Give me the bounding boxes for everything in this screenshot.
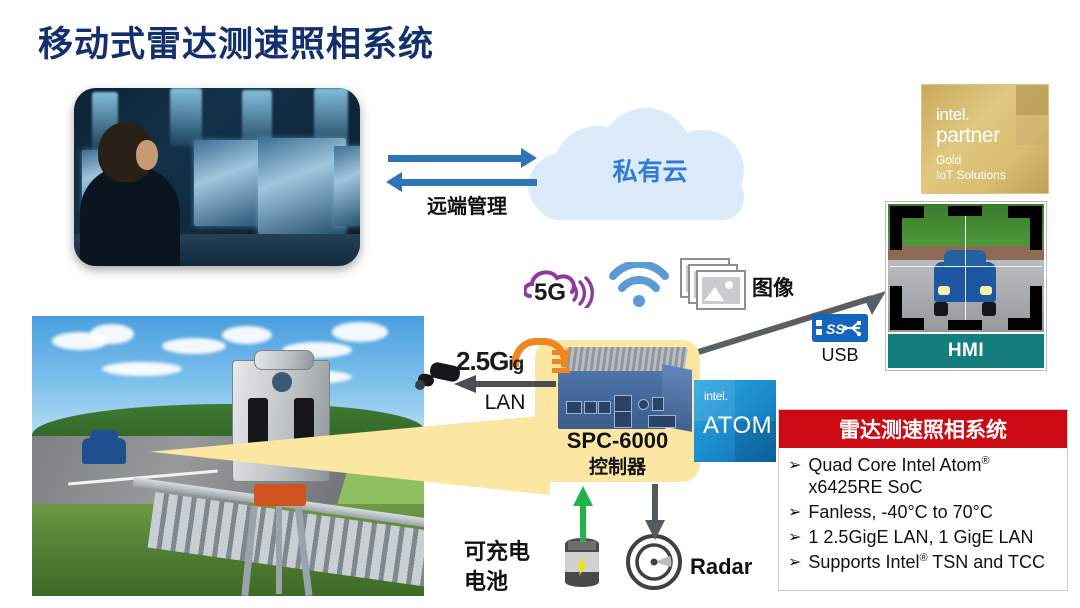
private-cloud-label: 私有云 bbox=[600, 152, 700, 188]
gige-e-mark bbox=[552, 350, 570, 374]
usb-icon: SS bbox=[812, 314, 868, 342]
spec-item: ➢ Supports Intel® TSN and TCC bbox=[788, 552, 1059, 574]
hmi-panel: HMI bbox=[885, 201, 1047, 371]
remote-management-label: 远端管理 bbox=[387, 190, 547, 219]
spec-item-text: Fanless, -40°C to 70°C bbox=[808, 502, 992, 524]
intel-partner-badge: intel. partner Gold IoT Solutions bbox=[921, 84, 1049, 194]
bullet-icon: ➢ bbox=[788, 527, 801, 549]
lan-label: LAN bbox=[460, 391, 550, 415]
intel-partner-brand: intel. bbox=[936, 105, 970, 125]
svg-text:SS: SS bbox=[826, 321, 845, 337]
usb-label: USB bbox=[805, 345, 875, 366]
intel-atom-product: ATOM bbox=[703, 412, 772, 440]
bullet-icon: ➢ bbox=[788, 455, 801, 477]
spec-text-sup: ® bbox=[982, 455, 990, 467]
spec-list: ➢ Quad Core Intel Atom® x6425RE SoC ➢ Fa… bbox=[779, 448, 1067, 574]
spec-item-text: 1 2.5GigE LAN, 1 GigE LAN bbox=[808, 527, 1033, 549]
wifi-icon bbox=[608, 262, 670, 308]
spc-device-name: SPC-6000 bbox=[535, 428, 700, 454]
intel-partner-tier: Gold bbox=[936, 153, 961, 167]
gige-sub-label: ig bbox=[508, 354, 523, 375]
intel-partner-word: partner bbox=[936, 124, 1000, 148]
intel-atom-badge: intel. ATOM bbox=[694, 380, 776, 462]
control-room-photo bbox=[74, 88, 360, 266]
spec-text-line2: x6425RE SoC bbox=[808, 477, 922, 497]
spec-text-a: Supports Intel bbox=[808, 552, 919, 572]
5g-icon: 5G bbox=[524, 262, 596, 308]
svg-text:5G: 5G bbox=[534, 279, 566, 306]
spc-device-subtitle: 控制器 bbox=[535, 452, 700, 479]
spec-panel-header: 雷达测速照相系统 bbox=[779, 410, 1067, 448]
spec-item: ➢ 1 2.5GigE LAN, 1 GigE LAN bbox=[788, 527, 1059, 549]
radar-icon bbox=[626, 534, 682, 590]
battery-label-line1: 可充电 bbox=[464, 534, 530, 566]
spc-6000-device-image bbox=[548, 345, 698, 431]
rechargeable-battery-icon bbox=[562, 536, 602, 588]
battery-power-arrow bbox=[572, 486, 594, 542]
hmi-label: HMI bbox=[888, 334, 1044, 368]
battery-label-line2: 电池 bbox=[464, 564, 508, 596]
radar-signal-arrow bbox=[644, 484, 666, 540]
spec-text-sup: ® bbox=[919, 552, 927, 564]
bullet-icon: ➢ bbox=[788, 552, 801, 574]
intel-atom-brand: intel. bbox=[704, 389, 728, 403]
spec-panel: 雷达测速照相系统 ➢ Quad Core Intel Atom® x6425RE… bbox=[778, 409, 1068, 591]
bullet-icon: ➢ bbox=[788, 502, 801, 524]
spec-item-text: Supports Intel® TSN and TCC bbox=[808, 552, 1045, 574]
spec-text-b: TSN and TCC bbox=[928, 552, 1045, 572]
hmi-detection-image bbox=[888, 204, 1044, 332]
spec-item: ➢ Fanless, -40°C to 70°C bbox=[788, 502, 1059, 524]
spec-text-a: Quad Core Intel Atom bbox=[808, 455, 981, 475]
spec-item-text: Quad Core Intel Atom® x6425RE SoC bbox=[808, 455, 989, 499]
intel-partner-category: IoT Solutions bbox=[936, 168, 1006, 182]
page-title: 移动式雷达测速照相系统 bbox=[38, 16, 434, 67]
radar-label: Radar bbox=[690, 554, 752, 580]
spec-item: ➢ Quad Core Intel Atom® x6425RE SoC bbox=[788, 455, 1059, 499]
